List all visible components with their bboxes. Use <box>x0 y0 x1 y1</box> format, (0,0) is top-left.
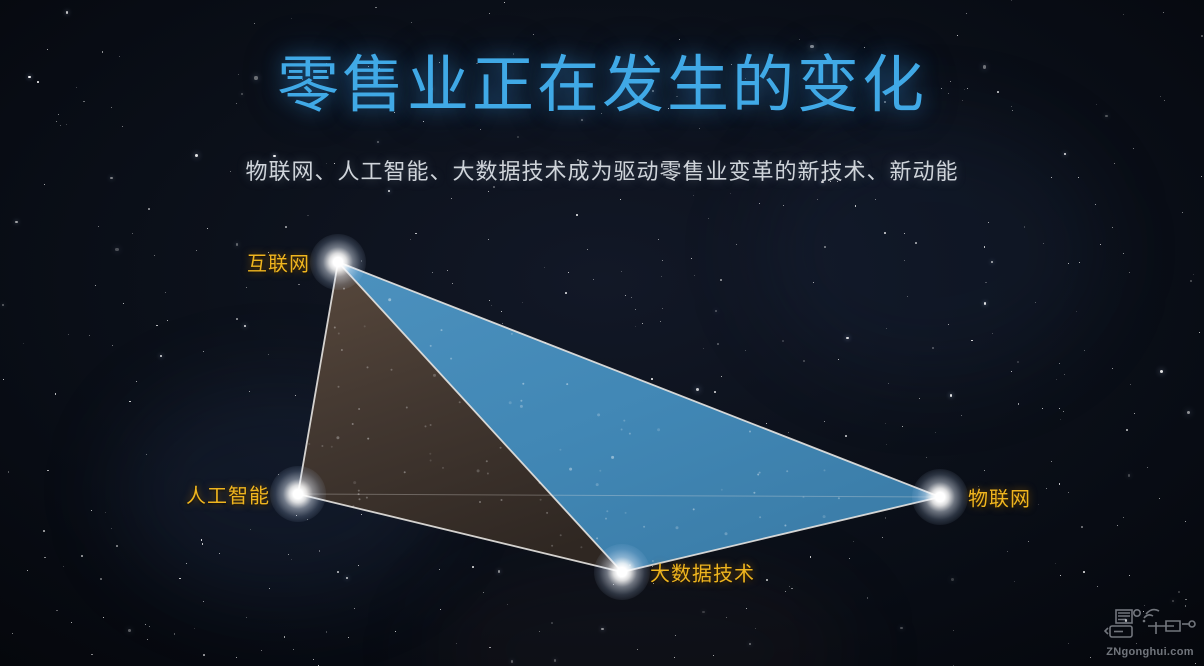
face-star <box>486 460 488 462</box>
face-star <box>334 327 336 329</box>
face-star <box>629 433 631 435</box>
tetrahedron-diagram: 互联网人工智能物联网大数据技术 <box>0 0 1204 666</box>
node-label-internet: 互联网 <box>247 248 310 277</box>
face-star <box>643 526 645 528</box>
face-star <box>566 383 568 385</box>
face-star <box>358 408 360 410</box>
face-star <box>459 401 461 403</box>
face-star <box>343 288 345 290</box>
face-star <box>629 564 631 566</box>
face-star <box>520 405 523 408</box>
face-star <box>429 453 431 455</box>
face-star <box>540 499 542 501</box>
face-star <box>621 429 623 431</box>
face-star <box>406 407 408 409</box>
face-star <box>838 497 840 499</box>
face-star <box>569 468 572 471</box>
face-star <box>487 473 489 475</box>
face-star <box>606 510 608 512</box>
face-star <box>823 515 826 518</box>
face-star <box>676 526 679 529</box>
face-star <box>605 518 607 520</box>
face-star <box>757 474 759 476</box>
face-star <box>511 333 513 335</box>
face-star <box>596 537 598 539</box>
face-star <box>388 298 391 301</box>
node-label-iot: 物联网 <box>968 483 1031 512</box>
face-star <box>522 383 524 385</box>
tetrahedron-svg <box>0 0 1204 666</box>
face-star <box>321 445 323 447</box>
face-star <box>338 386 340 388</box>
node-label-bigdata: 大数据技术 <box>650 558 755 587</box>
node-label-ai: 人工智能 <box>186 480 270 509</box>
face-star <box>596 483 599 486</box>
face-star <box>753 492 755 494</box>
face-star <box>559 449 561 451</box>
face-star <box>353 481 356 484</box>
face-star <box>338 333 340 335</box>
face-star <box>546 512 548 514</box>
face-star <box>786 470 788 472</box>
diagram-faces <box>298 262 940 572</box>
face-star <box>430 345 432 347</box>
face-star <box>442 467 444 469</box>
face-star <box>441 329 443 331</box>
face-star <box>358 493 360 495</box>
face-star <box>430 424 432 426</box>
face-star <box>599 470 601 472</box>
face-star <box>657 428 660 431</box>
face-star <box>509 401 512 404</box>
face-star <box>336 436 339 439</box>
face-star <box>625 512 627 514</box>
face-star <box>433 374 436 377</box>
face-star <box>759 472 761 474</box>
face-star <box>721 489 723 491</box>
face-star <box>364 325 366 327</box>
face-star <box>725 532 728 535</box>
face-star <box>759 516 761 518</box>
slide-canvas: 零售业正在发生的变化 物联网、人工智能、大数据技术成为驱动零售业变革的新技术、新… <box>0 0 1204 666</box>
face-star <box>331 446 333 448</box>
face-star <box>597 413 600 416</box>
face-star <box>352 505 354 507</box>
face-star <box>784 525 786 527</box>
face-star <box>560 534 562 536</box>
face-star <box>520 400 522 402</box>
face-star <box>500 447 502 449</box>
face-star <box>308 443 310 445</box>
face-star <box>404 471 406 473</box>
face-star <box>539 482 541 484</box>
face-star <box>501 499 503 501</box>
face-star <box>477 469 480 472</box>
face-star <box>430 460 432 462</box>
face-star <box>693 508 695 510</box>
face-star <box>367 366 369 368</box>
face-star <box>367 438 369 440</box>
face-star <box>623 420 625 422</box>
face-star <box>358 490 360 492</box>
face-star <box>450 358 452 360</box>
face-star <box>824 469 826 471</box>
face-star <box>341 349 343 351</box>
face-star <box>425 425 427 427</box>
face-star <box>803 496 805 498</box>
face-star <box>359 498 361 500</box>
face-star <box>479 501 481 503</box>
face-star <box>391 369 393 371</box>
face-star <box>551 545 553 547</box>
face-star <box>611 456 614 459</box>
face-star <box>580 546 582 548</box>
face-star <box>352 423 354 425</box>
face-star <box>366 497 368 499</box>
face-star <box>749 431 751 433</box>
